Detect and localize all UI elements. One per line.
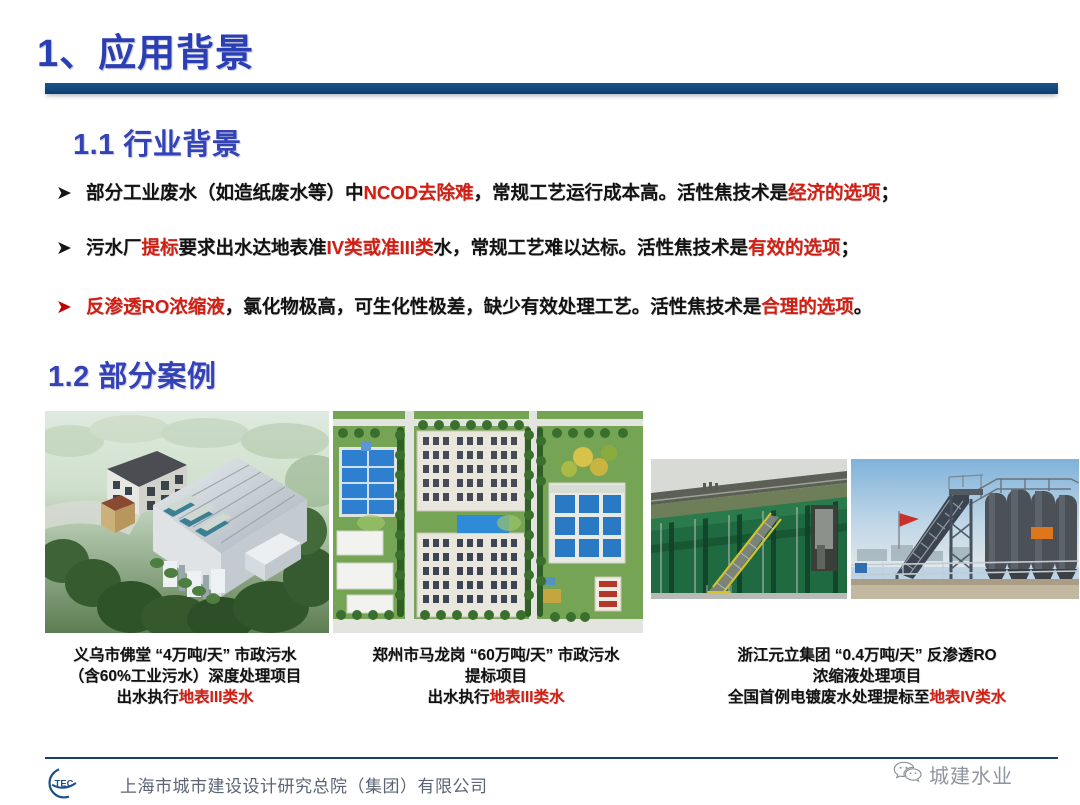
tec-logo-text: TEC <box>55 778 74 788</box>
tec-logo: TEC <box>47 766 81 800</box>
bullet-list: ➤ 部分工业废水（如造纸废水等）中NCOD去除难，常规工艺运行成本高。活性焦技术… <box>56 180 1066 343</box>
section-heading-1-1: 1.1 行业背景 <box>73 121 241 163</box>
caption-line: 出水执行地表III类水 <box>30 687 340 708</box>
wechat-icon <box>893 760 923 789</box>
page-title: 1、应用背景 <box>37 22 254 77</box>
wechat-watermark: 城建水业 <box>893 760 1013 789</box>
arrow-bullet-icon: ➤ <box>56 294 86 321</box>
case-image-yiwu-aerial-rendering <box>45 411 329 633</box>
arrow-bullet-icon: ➤ <box>56 180 86 207</box>
case-image-zhengzhou-plant-plan <box>333 411 643 633</box>
section-heading-1-2: 1.2 部分案例 <box>48 353 216 395</box>
caption-line: 浓缩液处理项目 <box>660 666 1074 687</box>
bullet-text-1: 部分工业废水（如造纸废水等）中NCOD去除难，常规工艺运行成本高。活性焦技术是经… <box>86 180 899 206</box>
list-item: ➤ 反渗透RO浓缩液，氯化物极高，可生化性极差，缺少有效处理工艺。活性焦技术是合… <box>56 294 1066 339</box>
footer-divider <box>45 757 1058 759</box>
bullet-text-2: 污水厂提标要求出水达地表准IV类或准III类水，常规工艺难以达标。活性焦技术是有… <box>86 235 859 261</box>
case-caption-zhengzhou: 郑州市马龙岗 “60万吨/天” 市政污水 提标项目 出水执行地表III类水 <box>338 645 654 708</box>
caption-line: 义乌市佛堂 “4万吨/天” 市政污水 <box>30 645 340 666</box>
case-caption-yuanli: 浙江元立集团 “0.4万吨/天” 反渗透RO 浓缩液处理项目 全国首例电镀废水处… <box>660 645 1074 708</box>
arrow-bullet-icon: ➤ <box>56 235 86 262</box>
caption-line: 全国首例电镀废水处理提标至地表IV类水 <box>660 687 1074 708</box>
caption-line: 提标项目 <box>338 666 654 687</box>
caption-line: （含60%工业污水）深度处理项目 <box>30 666 340 687</box>
list-item: ➤ 部分工业废水（如造纸废水等）中NCOD去除难，常规工艺运行成本高。活性焦技术… <box>56 180 1066 225</box>
caption-line: 郑州市马龙岗 “60万吨/天” 市政污水 <box>338 645 654 666</box>
caption-line: 浙江元立集团 “0.4万吨/天” 反渗透RO <box>660 645 1074 666</box>
footer-company-name: 上海市城市建设设计研究总院（集团）有限公司 <box>120 772 488 797</box>
list-item: ➤ 污水厂提标要求出水达地表准IV类或准III类水，常规工艺难以达标。活性焦技术… <box>56 235 1066 280</box>
wechat-account-label: 城建水业 <box>929 760 1013 789</box>
case-caption-yiwu: 义乌市佛堂 “4万吨/天” 市政污水 （含60%工业污水）深度处理项目 出水执行… <box>30 645 340 708</box>
caption-line: 出水执行地表III类水 <box>338 687 654 708</box>
slide-application-background: 1、应用背景 1.1 行业背景 ➤ 部分工业废水（如造纸废水等）中NCOD去除难… <box>0 0 1080 803</box>
case-image-yuanli-tanks-photos <box>651 453 1079 633</box>
bullet-text-3: 反渗透RO浓缩液，氯化物极高，可生化性极差，缺少有效处理工艺。活性焦技术是合理的… <box>86 294 872 320</box>
title-divider <box>45 83 1058 94</box>
